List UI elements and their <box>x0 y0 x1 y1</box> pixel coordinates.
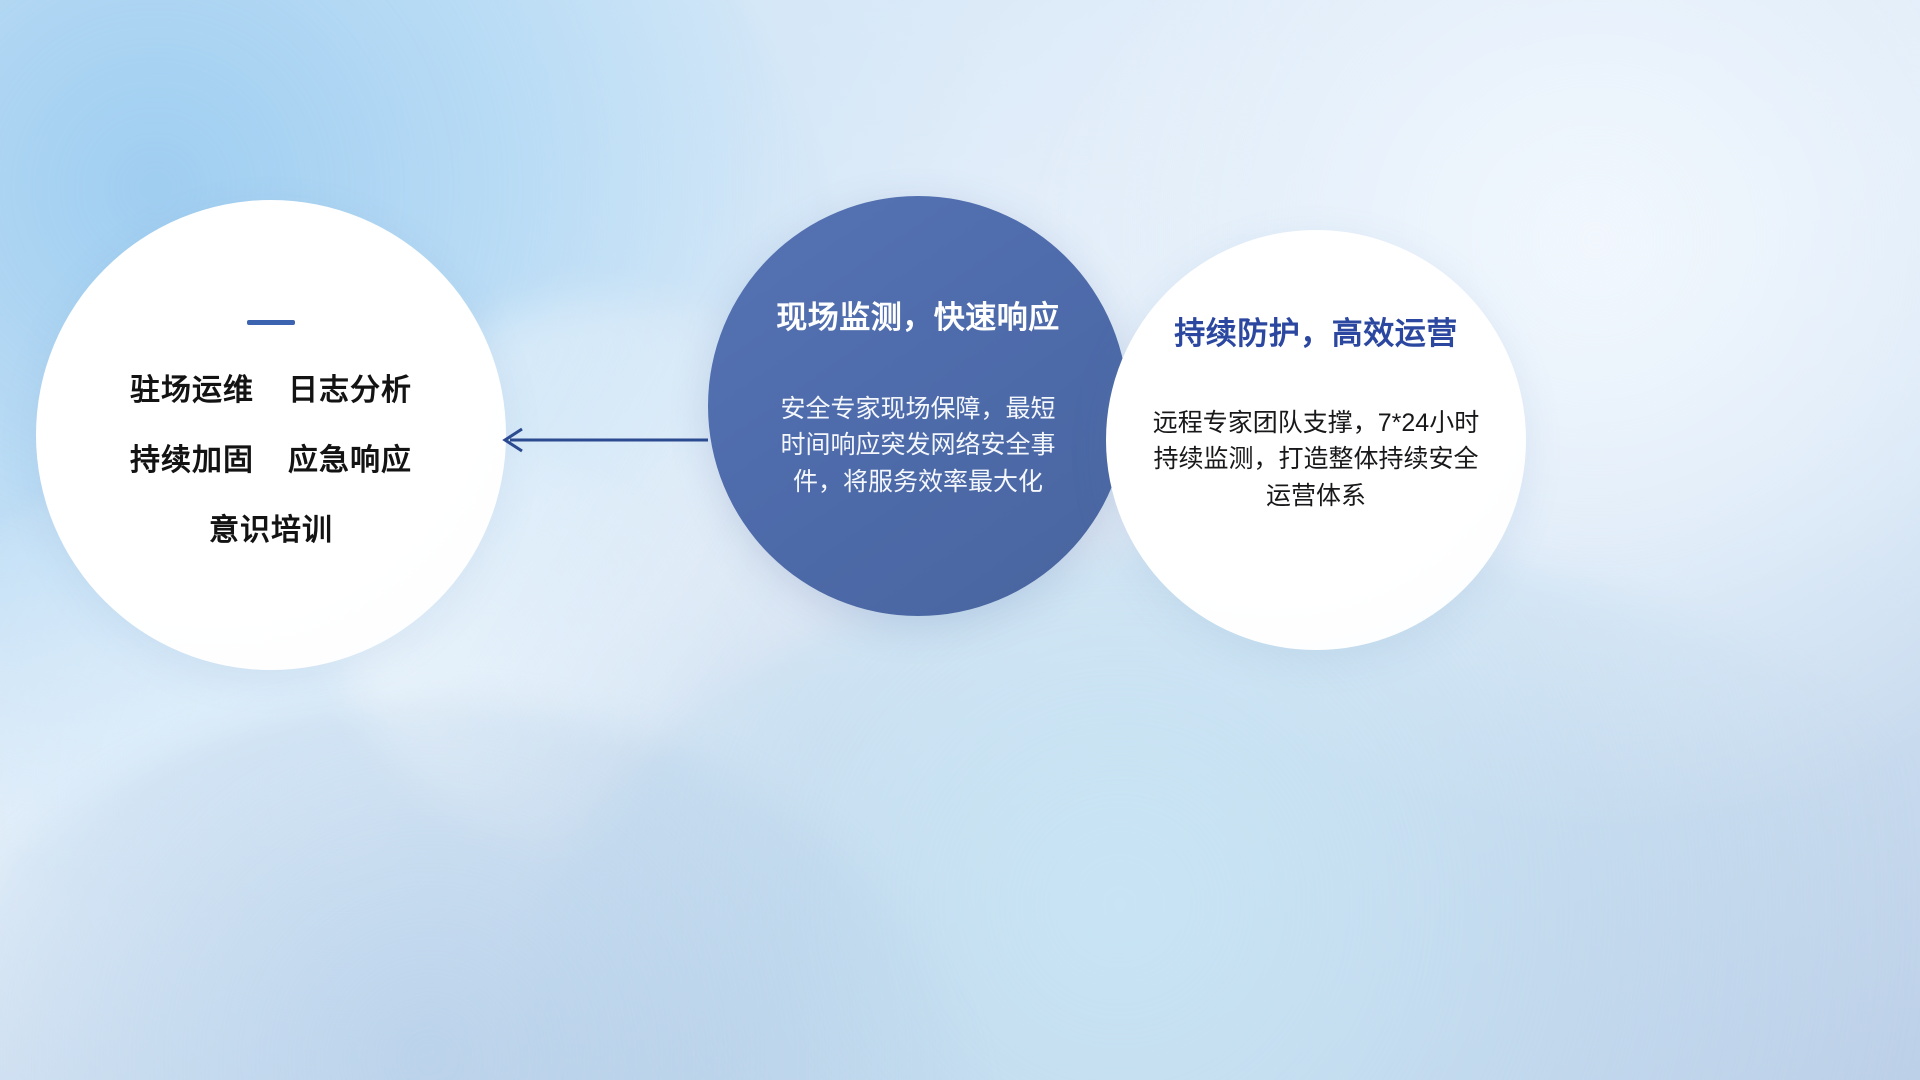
right-circle-title: 持续防护，高效运营 <box>1174 308 1458 353</box>
capability-circle-left[interactable]: 驻场运维 日志分析 持续加固 应急响应 意识培训 <box>36 200 506 670</box>
capability-circle-middle[interactable]: 现场监测，快速响应 安全专家现场保障，最短时间响应突发网络安全事件，将服务效率最… <box>708 196 1128 616</box>
capability-tag-row: 持续加固 应急响应 <box>130 435 412 479</box>
middle-circle-body: 安全专家现场保障，最短时间响应突发网络安全事件，将服务效率最大化 <box>775 391 1061 500</box>
capability-tag-list: 驻场运维 日志分析 持续加固 应急响应 意识培训 <box>130 365 412 549</box>
capability-tag-row: 意识培训 <box>209 505 333 549</box>
middle-circle-title: 现场监测，快速响应 <box>776 292 1060 337</box>
capability-tag: 意识培训 <box>209 505 333 549</box>
slide-canvas: 驻场运维 日志分析 持续加固 应急响应 意识培训 现场监测，快速响应 安全专家现… <box>0 0 1920 1080</box>
capability-tag: 持续加固 <box>130 435 254 479</box>
divider-dash <box>247 320 295 325</box>
capability-circle-right[interactable]: 持续防护，高效运营 远程专家团队支撑，7*24小时持续监测，打造整体持续安全运营… <box>1106 230 1526 650</box>
capability-tag: 驻场运维 <box>130 365 254 409</box>
capability-tag-row: 驻场运维 日志分析 <box>130 365 412 409</box>
right-circle-body: 远程专家团队支撑，7*24小时持续监测，打造整体持续安全运营体系 <box>1146 405 1486 514</box>
capability-tag: 日志分析 <box>288 365 412 409</box>
capability-tag: 应急响应 <box>288 435 412 479</box>
